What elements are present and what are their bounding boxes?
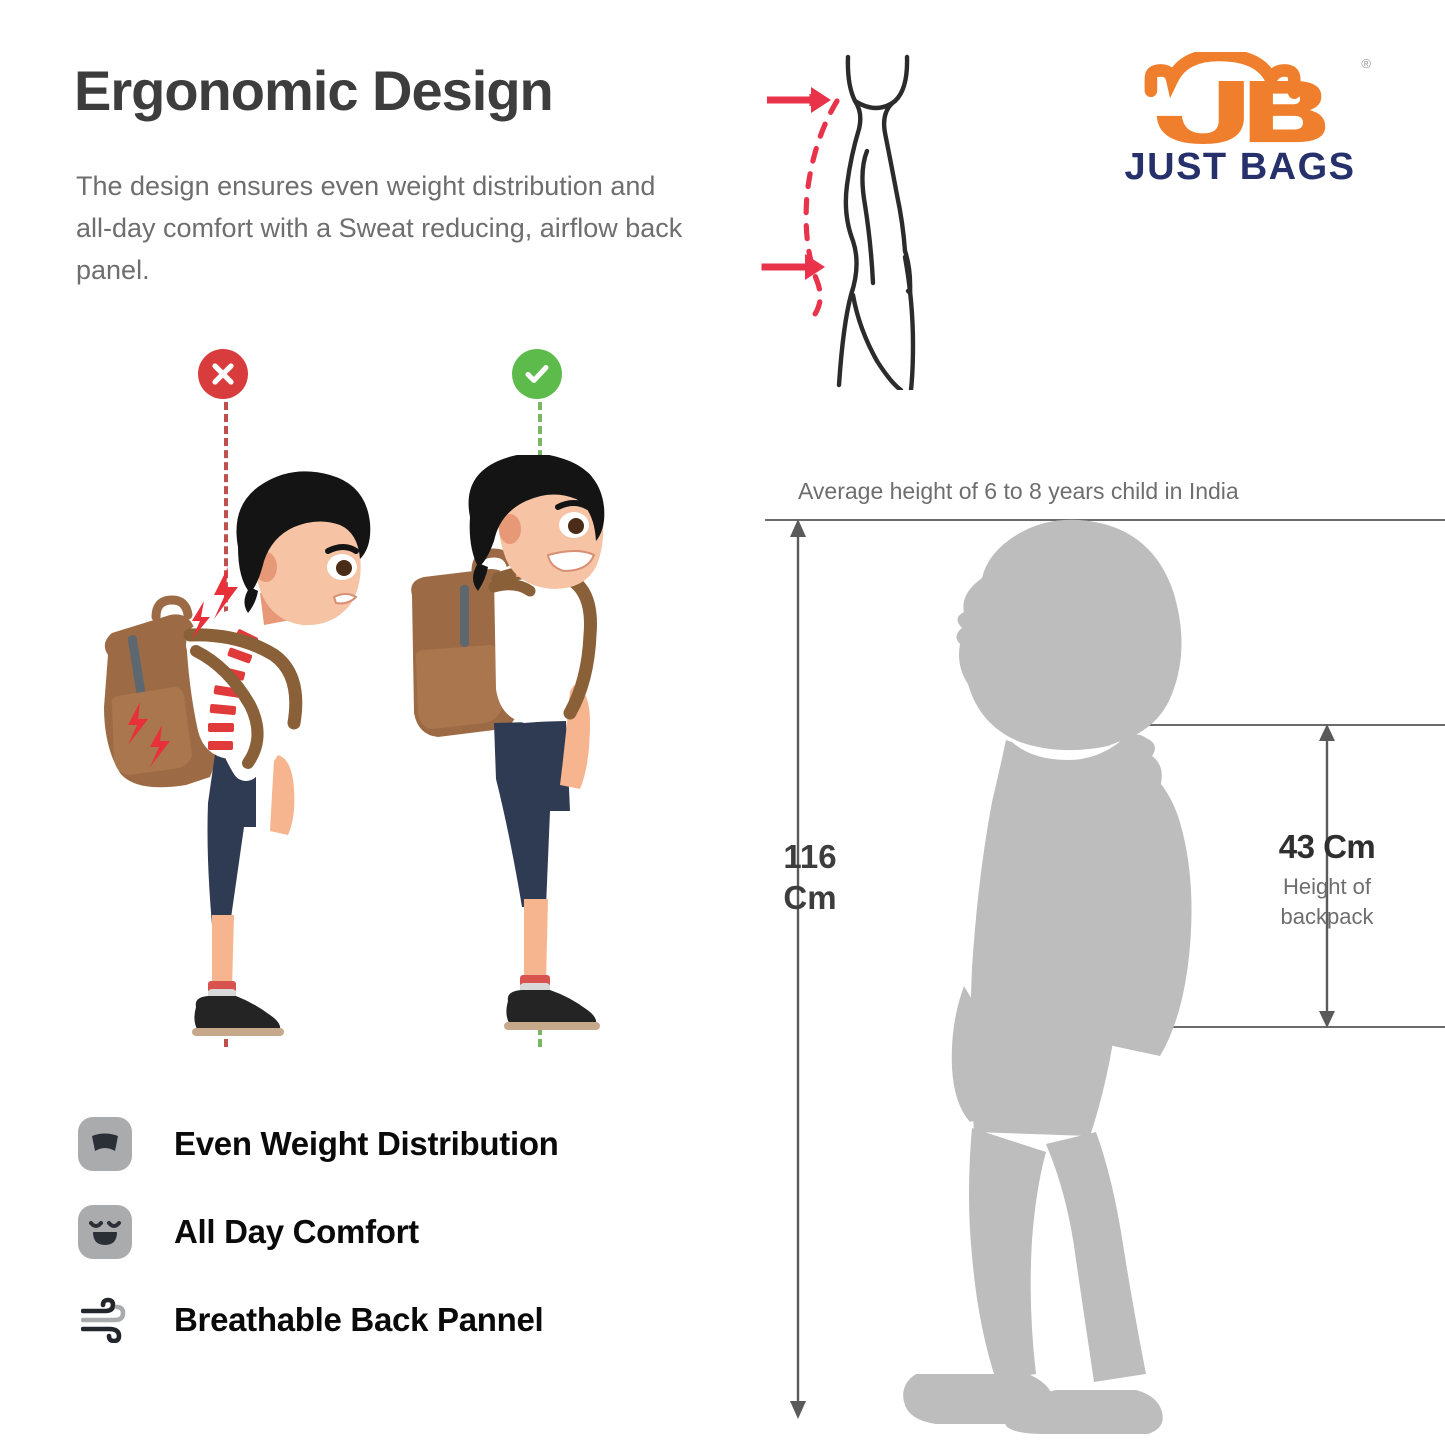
child-with-backpack-slouching-illustration xyxy=(78,455,388,1045)
measurement-caption: Average height of 6 to 8 years child in … xyxy=(798,478,1239,505)
brand-logo: ® JUST BAGS xyxy=(1085,52,1395,202)
cross-icon xyxy=(210,361,236,387)
child-with-backpack-upright-illustration xyxy=(398,455,688,1045)
total-height-dimension-arrow xyxy=(776,519,820,1419)
page-subtitle: The design ensures even weight distribut… xyxy=(76,166,686,292)
feature-item-even-weight-distribution: Even Weight Distribution xyxy=(78,1100,698,1188)
good-posture-badge xyxy=(512,349,562,399)
backpack-height-description: Height ofbackpack xyxy=(1232,872,1422,931)
brand-name: JUST BAGS xyxy=(1085,146,1395,189)
total-height-label: 116 Cm xyxy=(762,836,858,919)
total-height-value: 116 xyxy=(783,838,836,875)
registered-trademark-icon: ® xyxy=(1361,56,1371,71)
infographic-canvas: Ergonomic Design The design ensures even… xyxy=(0,0,1445,1445)
check-icon xyxy=(523,360,551,388)
feature-label: Breathable Back Pannel xyxy=(174,1301,543,1339)
feature-label: Even Weight Distribution xyxy=(174,1125,559,1163)
shoulder-pad-icon xyxy=(78,1117,132,1171)
bad-posture-badge xyxy=(198,349,248,399)
feature-label: All Day Comfort xyxy=(174,1213,419,1251)
total-height-unit: Cm xyxy=(783,879,836,916)
child-with-backpack-silhouette-icon xyxy=(860,516,1280,1434)
spine-posture-line-drawing-icon xyxy=(755,45,1010,390)
feature-item-all-day-comfort: All Day Comfort xyxy=(78,1188,698,1276)
jb-monogram-icon: ® xyxy=(1085,52,1395,144)
backpack-height-value: 43 Cm xyxy=(1232,828,1422,866)
smiling-face-icon xyxy=(78,1205,132,1259)
wind-airflow-icon xyxy=(78,1293,132,1347)
feature-item-breathable-back-pannel: Breathable Back Pannel xyxy=(78,1276,698,1364)
backpack-height-label: 43 Cm Height ofbackpack xyxy=(1232,828,1422,931)
page-title: Ergonomic Design xyxy=(74,62,553,121)
feature-list: Even Weight Distribution All Day Comfort xyxy=(78,1100,698,1364)
